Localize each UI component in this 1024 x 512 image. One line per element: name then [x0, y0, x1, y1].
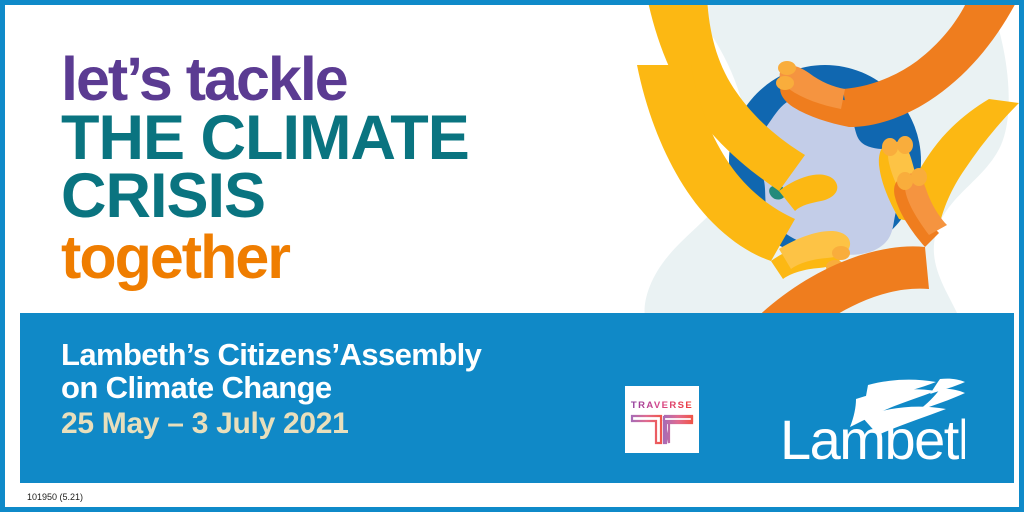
traverse-wordmark: TRAVERSE: [631, 400, 693, 411]
headline-block: let’s tackle THE CLIMATE CRISIS together: [61, 51, 661, 286]
headline-line-crisis: CRISIS: [61, 167, 661, 226]
lambeth-logo: Lambeth: [750, 373, 965, 467]
poster-root: let’s tackle THE CLIMATE CRISIS together…: [0, 0, 1024, 512]
lambeth-wordmark: Lambeth: [780, 408, 965, 467]
reference-code: 101950 (5.21): [27, 492, 83, 502]
headline-line-lets: let’s tackle: [61, 51, 661, 108]
banner-text-block: Lambeth’s Citizens’Assembly on Climate C…: [61, 338, 481, 442]
traverse-logo: TRAVERSE: [625, 386, 699, 453]
hands-around-globe-illustration: [629, 5, 1019, 317]
headline-line-climate: THE CLIMATE: [61, 109, 661, 168]
banner-title-line-2: on Climate Change: [61, 371, 481, 404]
banner-title-line-1: Lambeth’s Citizens’Assembly: [61, 338, 481, 371]
headline-line-together: together: [61, 229, 661, 286]
banner-dates: 25 May – 3 July 2021: [61, 407, 481, 442]
